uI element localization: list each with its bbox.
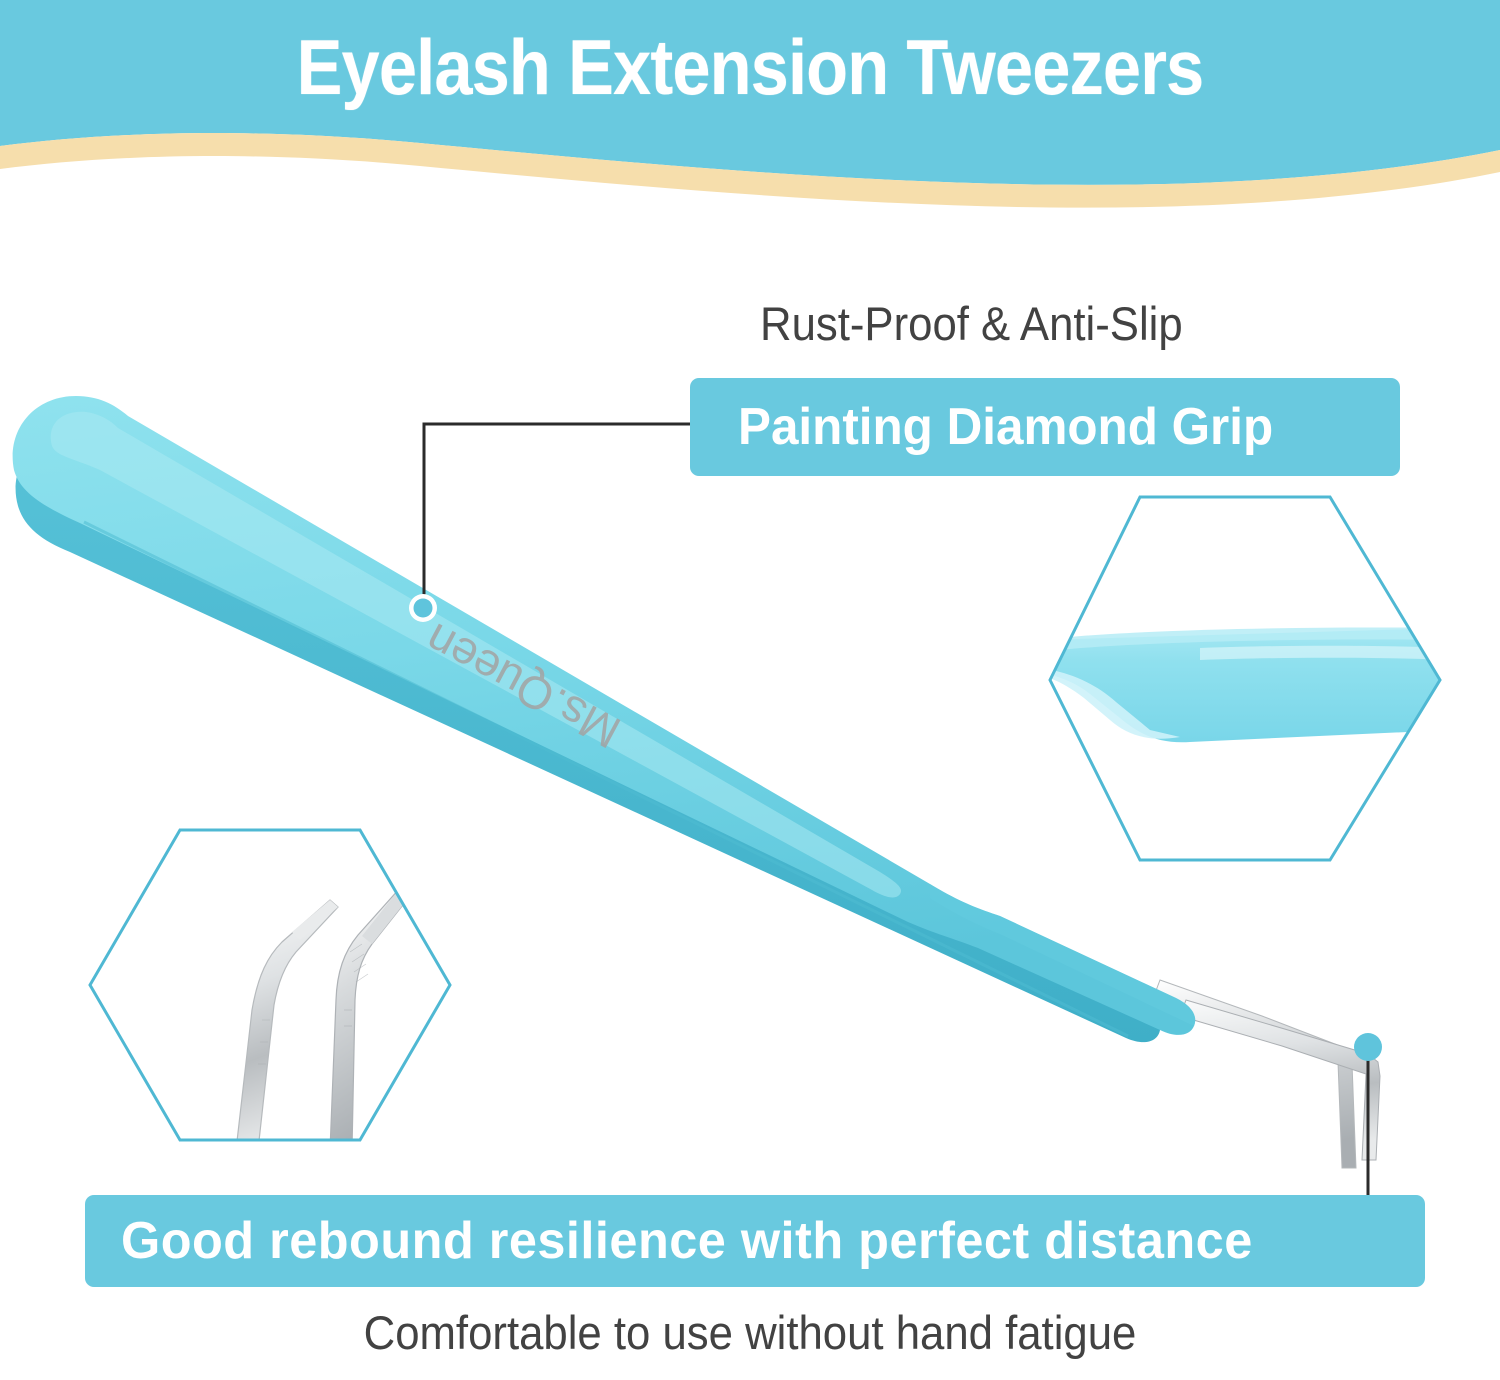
comfort-label: Comfortable to use without hand fatigue xyxy=(53,1305,1448,1360)
tips-hexagon-inset xyxy=(85,825,455,1150)
tips-closeup-photo xyxy=(85,825,455,1150)
grip-feature-badge: Painting Diamond Grip xyxy=(690,378,1400,476)
rust-proof-label: Rust-Proof & Anti-Slip xyxy=(760,296,1183,351)
grip-hexagon-inset xyxy=(1040,492,1450,867)
product-artwork: Ms.Queen xyxy=(0,0,1500,1380)
grip-closeup-photo xyxy=(1040,492,1450,867)
rebound-feature-badge: Good rebound resilience with perfect dis… xyxy=(85,1195,1425,1287)
product-infographic: Eyelash Extension Tweezers xyxy=(0,0,1500,1380)
rebound-badge-label: Good rebound resilience with perfect dis… xyxy=(121,1211,1253,1271)
grip-badge-label: Painting Diamond Grip xyxy=(738,397,1273,457)
